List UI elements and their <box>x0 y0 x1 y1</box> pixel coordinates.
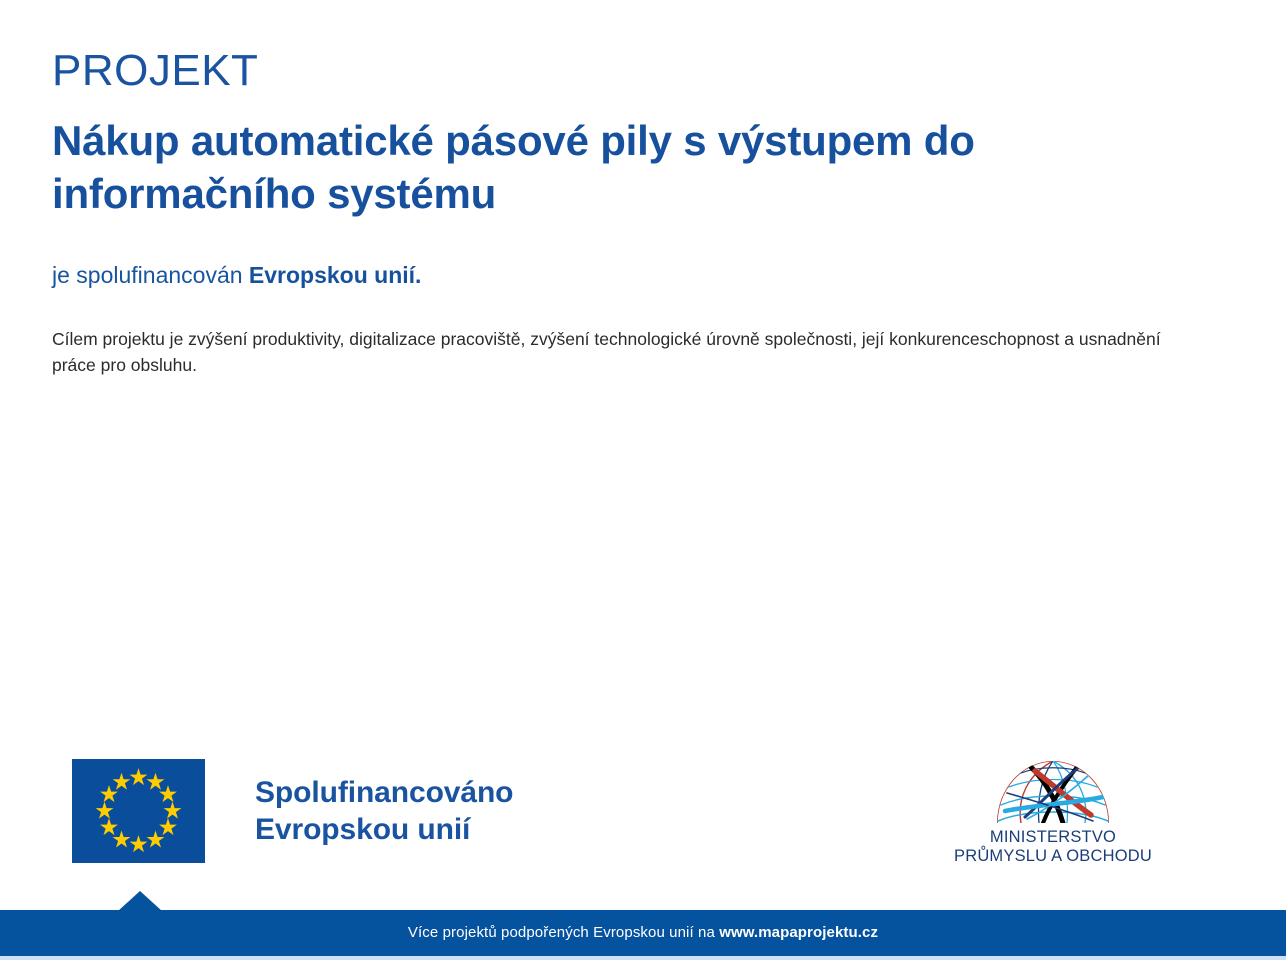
ministry-lockup: MINISTERSTVO PRŮMYSLU A OBCHODU <box>928 753 1178 866</box>
ministry-globe-icon <box>991 753 1115 825</box>
footer-text: Více projektů podpořených Evropskou unií… <box>408 923 878 943</box>
footer-bottom-strip <box>0 956 1286 960</box>
footer-notch-triangle <box>118 891 162 911</box>
page-title: Nákup automatické pásové pily s výstupem… <box>52 114 1202 220</box>
footer-text-prefix: Více projektů podpořených Evropskou unií… <box>408 924 719 941</box>
subtitle-emphasis: Evropskou unií. <box>249 262 422 288</box>
subtitle: je spolufinancován Evropskou unií. <box>52 260 1202 290</box>
eu-cofunding-label: Spolufinancováno Evropskou unií <box>255 774 513 848</box>
page-eyebrow: PROJEKT <box>52 42 1202 100</box>
logo-row: Spolufinancováno Evropskou unií <box>0 745 1286 875</box>
content-block: PROJEKT Nákup automatické pásové pily s … <box>52 42 1202 378</box>
poster-root: PROJEKT Nákup automatické pásové pily s … <box>0 0 1286 960</box>
ministry-label: MINISTERSTVO PRŮMYSLU A OBCHODU <box>928 828 1178 866</box>
eu-flag-icon <box>72 759 205 863</box>
footer-bar: Více projektů podpořených Evropskou unií… <box>0 910 1286 956</box>
body-paragraph: Cílem projektu je zvýšení produktivity, … <box>52 326 1192 378</box>
subtitle-prefix: je spolufinancován <box>52 262 249 288</box>
footer-link[interactable]: www.mapaprojektu.cz <box>719 924 878 941</box>
eu-cofunding-lockup: Spolufinancováno Evropskou unií <box>72 759 513 863</box>
